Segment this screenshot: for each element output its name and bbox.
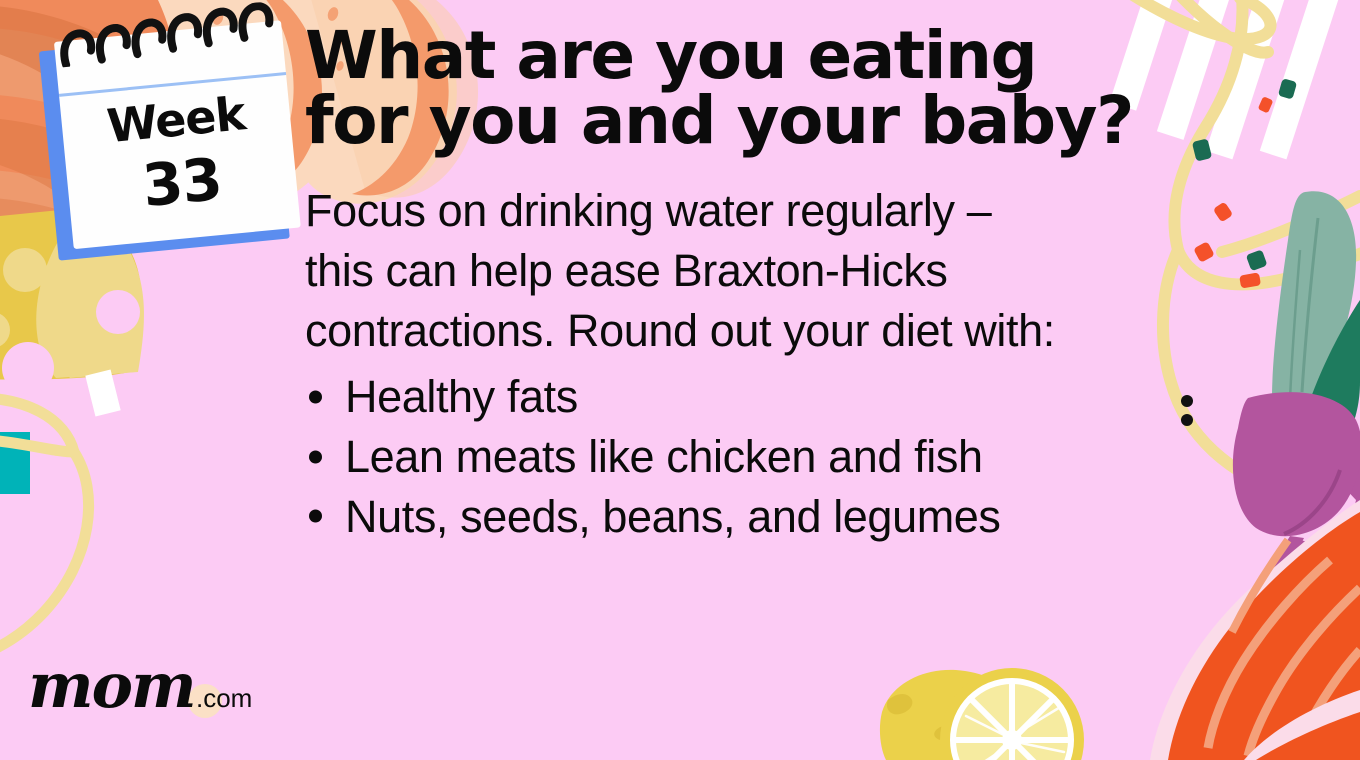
diet-bullet-list: Healthy fats Lean meats like chicken and… (305, 367, 1265, 547)
list-item: Healthy fats (305, 367, 1265, 427)
body-line-3: contractions. Round out your diet with: (305, 301, 1260, 361)
body-line-1: Focus on drinking water regularly – (305, 181, 1260, 241)
page-title: What are you eating for you and your bab… (305, 24, 1135, 153)
list-item-label: Nuts, seeds, beans, and legumes (345, 491, 1001, 542)
body-copy: Focus on drinking water regularly – this… (305, 181, 1260, 361)
calendar-graphic: Week 33 (27, 14, 300, 269)
bullet-dot-icon (309, 450, 322, 463)
list-item-label: Healthy fats (345, 371, 578, 422)
list-item: Lean meats like chicken and fish (305, 427, 1265, 487)
card-content: What are you eating for you and your bab… (305, 24, 1265, 546)
mom-com-logo: mom .com (28, 655, 258, 735)
logo-tld: .com (196, 683, 252, 714)
social-card: Week 33 What are you eating for you and … (0, 0, 1360, 760)
headline-line-2: for you and your baby? (305, 89, 1135, 154)
bullet-dot-icon (309, 390, 322, 403)
lemon-decoration (880, 668, 1084, 760)
bullet-dot-icon (309, 510, 322, 523)
list-item: Nuts, seeds, beans, and legumes (305, 487, 1265, 547)
body-line-2: this can help ease Braxton-Hicks (305, 241, 1260, 301)
list-item-label: Lean meats like chicken and fish (345, 431, 983, 482)
logo-wordmark: mom (28, 655, 195, 717)
